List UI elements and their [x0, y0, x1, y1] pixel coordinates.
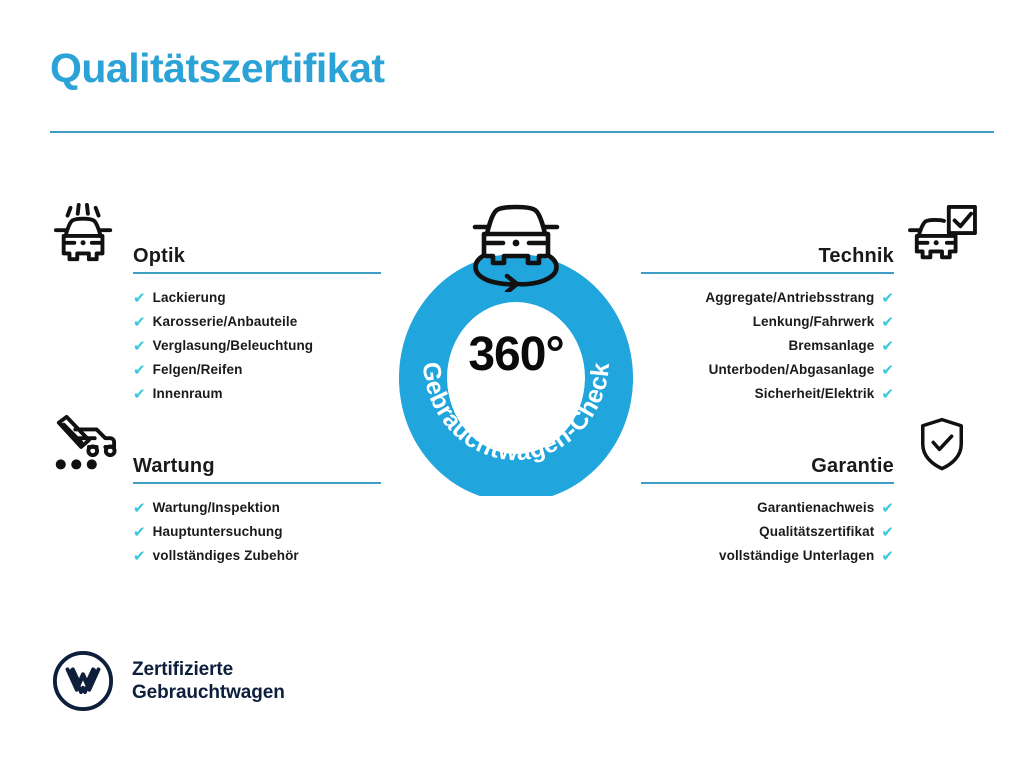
section-underline [133, 482, 381, 484]
checklist-technik: ✔ Aggregate/Antriebsstrang ✔ Lenkung/Fah… [637, 286, 894, 406]
gebrauchtwagen-check-badge: Gebrauchtwagen-Check 360° [385, 196, 647, 496]
section-underline [641, 482, 894, 484]
list-item: ✔ Unterboden/Abgasanlage [637, 358, 894, 382]
list-item: ✔ Sicherheit/Elektrik [637, 382, 894, 406]
section-optik: Optik ✔ Lackierung ✔ Karosserie/Anbautei… [45, 202, 385, 406]
check-icon: ✔ [881, 387, 894, 402]
section-title: Technik [641, 245, 894, 272]
list-item-label: Unterboden/Abgasanlage [709, 363, 875, 377]
check-icon: ✔ [133, 387, 146, 402]
shield-check-icon [902, 412, 982, 478]
check-icon: ✔ [881, 501, 894, 516]
wrench-car-service-icon [45, 412, 125, 478]
check-icon: ✔ [881, 291, 894, 306]
section-title: Optik [133, 245, 381, 272]
list-item-label: Garantienachweis [757, 501, 874, 515]
list-item: ✔ Bremsanlage [637, 334, 894, 358]
list-item-label: Wartung/Inspektion [153, 501, 280, 515]
checklist-optik: ✔ Lackierung ✔ Karosserie/Anbauteile ✔ V… [133, 286, 385, 406]
check-icon: ✔ [133, 549, 146, 564]
list-item-label: vollständige Unterlagen [719, 549, 874, 563]
checklist-wartung: ✔ Wartung/Inspektion ✔ Hauptuntersuchung… [133, 496, 385, 568]
brand-lockup: Zertifizierte Gebrauchtwagen [52, 650, 285, 712]
list-item: ✔ Aggregate/Antriebsstrang [637, 286, 894, 310]
list-item-label: Innenraum [153, 387, 223, 401]
check-icon: ✔ [881, 363, 894, 378]
badge-value: 360° [385, 331, 647, 379]
check-icon: ✔ [133, 291, 146, 306]
check-icon: ✔ [133, 315, 146, 330]
section-underline [133, 272, 381, 274]
list-item: ✔ vollständige Unterlagen [637, 544, 894, 568]
list-item-label: Lackierung [153, 291, 226, 305]
section-wartung: Wartung ✔ Wartung/Inspektion ✔ Hauptunte… [45, 412, 385, 568]
section-title: Wartung [133, 455, 381, 482]
section-title: Garantie [641, 455, 894, 482]
list-item-label: vollständiges Zubehör [153, 549, 299, 563]
section-garantie: Garantie ✔ Garantienachweis ✔ Qualitätsz… [637, 412, 982, 568]
list-item-label: Lenkung/Fahrwerk [753, 315, 875, 329]
car-checkbox-icon [902, 202, 982, 268]
car-shine-icon [45, 202, 125, 268]
list-item: ✔ Karosserie/Anbauteile [133, 310, 385, 334]
page-title: Qualitätszertifikat [50, 46, 385, 91]
car-rotation-icon [461, 196, 571, 292]
list-item-label: Felgen/Reifen [153, 363, 243, 377]
check-icon: ✔ [133, 363, 146, 378]
brand-line-2: Gebrauchtwagen [132, 681, 285, 704]
list-item: ✔ Lenkung/Fahrwerk [637, 310, 894, 334]
list-item: ✔ vollständiges Zubehör [133, 544, 385, 568]
section-title-wrap: Wartung [133, 455, 381, 484]
list-item-label: Sicherheit/Elektrik [755, 387, 875, 401]
check-icon: ✔ [881, 549, 894, 564]
list-item: ✔ Qualitätszertifikat [637, 520, 894, 544]
list-item-label: Qualitätszertifikat [759, 525, 874, 539]
section-technik: Technik ✔ Aggregate/Antriebsstrang ✔ Len… [637, 202, 982, 406]
check-icon: ✔ [881, 525, 894, 540]
list-item: ✔ Hauptuntersuchung [133, 520, 385, 544]
list-item-label: Bremsanlage [788, 339, 874, 353]
list-item: ✔ Garantienachweis [637, 496, 894, 520]
list-item: ✔ Wartung/Inspektion [133, 496, 385, 520]
list-item-label: Verglasung/Beleuchtung [153, 339, 313, 353]
list-item-label: Hauptuntersuchung [153, 525, 283, 539]
list-item: ✔ Felgen/Reifen [133, 358, 385, 382]
check-icon: ✔ [133, 339, 146, 354]
section-title-wrap: Optik [133, 245, 381, 274]
section-header: Technik [637, 202, 982, 274]
check-icon: ✔ [133, 525, 146, 540]
checklist-garantie: ✔ Garantienachweis ✔ Qualitätszertifikat… [637, 496, 894, 568]
brand-line-1: Zertifizierte [132, 658, 285, 681]
title-divider [50, 131, 994, 133]
section-title-wrap: Technik [641, 245, 894, 274]
list-item: ✔ Verglasung/Beleuchtung [133, 334, 385, 358]
section-title-wrap: Garantie [641, 455, 894, 484]
list-item-label: Karosserie/Anbauteile [153, 315, 298, 329]
check-icon: ✔ [881, 315, 894, 330]
list-item-label: Aggregate/Antriebsstrang [705, 291, 874, 305]
list-item: ✔ Innenraum [133, 382, 385, 406]
check-icon: ✔ [133, 501, 146, 516]
check-icon: ✔ [881, 339, 894, 354]
brand-text: Zertifizierte Gebrauchtwagen [132, 658, 285, 704]
section-header: Wartung [45, 412, 385, 484]
section-header: Garantie [637, 412, 982, 484]
section-underline [641, 272, 894, 274]
vw-logo-icon [52, 650, 114, 712]
list-item: ✔ Lackierung [133, 286, 385, 310]
section-header: Optik [45, 202, 385, 274]
